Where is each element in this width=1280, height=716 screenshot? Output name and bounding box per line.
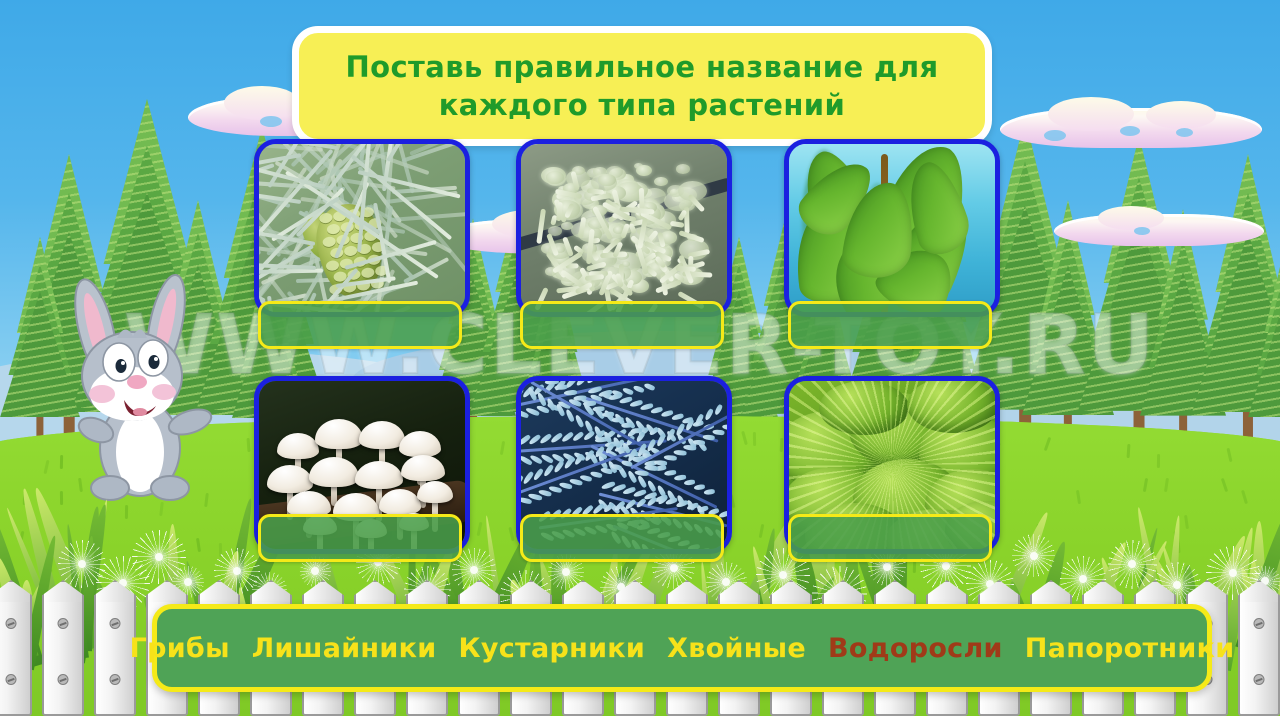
card-fern-dropzone[interactable] (520, 514, 724, 562)
word-paporotniki[interactable]: Папоротники (1025, 633, 1235, 664)
card-mushroom-dropzone[interactable] (258, 514, 462, 562)
card-conifer (254, 139, 460, 349)
card-photo-kelp (789, 144, 995, 312)
conifer-tree (1248, 233, 1280, 443)
fence-screw (58, 618, 69, 629)
card-lichen (516, 139, 722, 349)
fence-picket (42, 594, 84, 716)
card-algae-image (784, 139, 1000, 317)
instruction-line-2: каждого типа растений (439, 88, 846, 122)
instruction-line-1: Поставь правильное название для (345, 50, 938, 84)
word-gribi[interactable]: Грибы (130, 633, 230, 664)
rabbit-mascot (62, 272, 222, 507)
card-photo-conifer (259, 144, 465, 312)
card-mushroom (254, 376, 460, 562)
game-stage: WWW.CLEVER-TOY.RU (0, 0, 1280, 716)
card-algae (784, 139, 990, 349)
card-conifer-dropzone[interactable] (258, 301, 462, 349)
word-vodorosli[interactable]: Водоросли (828, 633, 1003, 664)
word-lishayniki[interactable]: Лишайники (252, 633, 437, 664)
fence-screw (58, 674, 69, 685)
card-moss-dropzone[interactable] (788, 514, 992, 562)
card-lichen-image (516, 139, 732, 317)
card-moss (784, 376, 990, 562)
word-hvoynye[interactable]: Хвойные (667, 633, 806, 664)
fence-screw (6, 618, 17, 629)
fence-screw (110, 674, 121, 685)
grass-tick (753, 432, 756, 446)
word-bank[interactable]: Грибы Лишайники Кустарники Хвойные Водор… (152, 604, 1212, 692)
word-kustarniki[interactable]: Кустарники (458, 633, 645, 664)
card-photo-lichen (521, 144, 727, 312)
card-algae-dropzone[interactable] (788, 301, 992, 349)
fence-screw (6, 674, 17, 685)
card-lichen-dropzone[interactable] (520, 301, 724, 349)
grass-tick (246, 438, 250, 452)
card-fern (516, 376, 722, 562)
fence-screw (1254, 618, 1265, 629)
fence-picket (1238, 594, 1280, 716)
grass-tick (1157, 454, 1160, 468)
card-conifer-image (254, 139, 470, 317)
fence-screw (1254, 674, 1265, 685)
fence-screw (110, 618, 121, 629)
grass-tick (152, 553, 155, 567)
fence-picket (0, 594, 32, 716)
instruction-banner: Поставь правильное название для каждого … (292, 26, 992, 146)
